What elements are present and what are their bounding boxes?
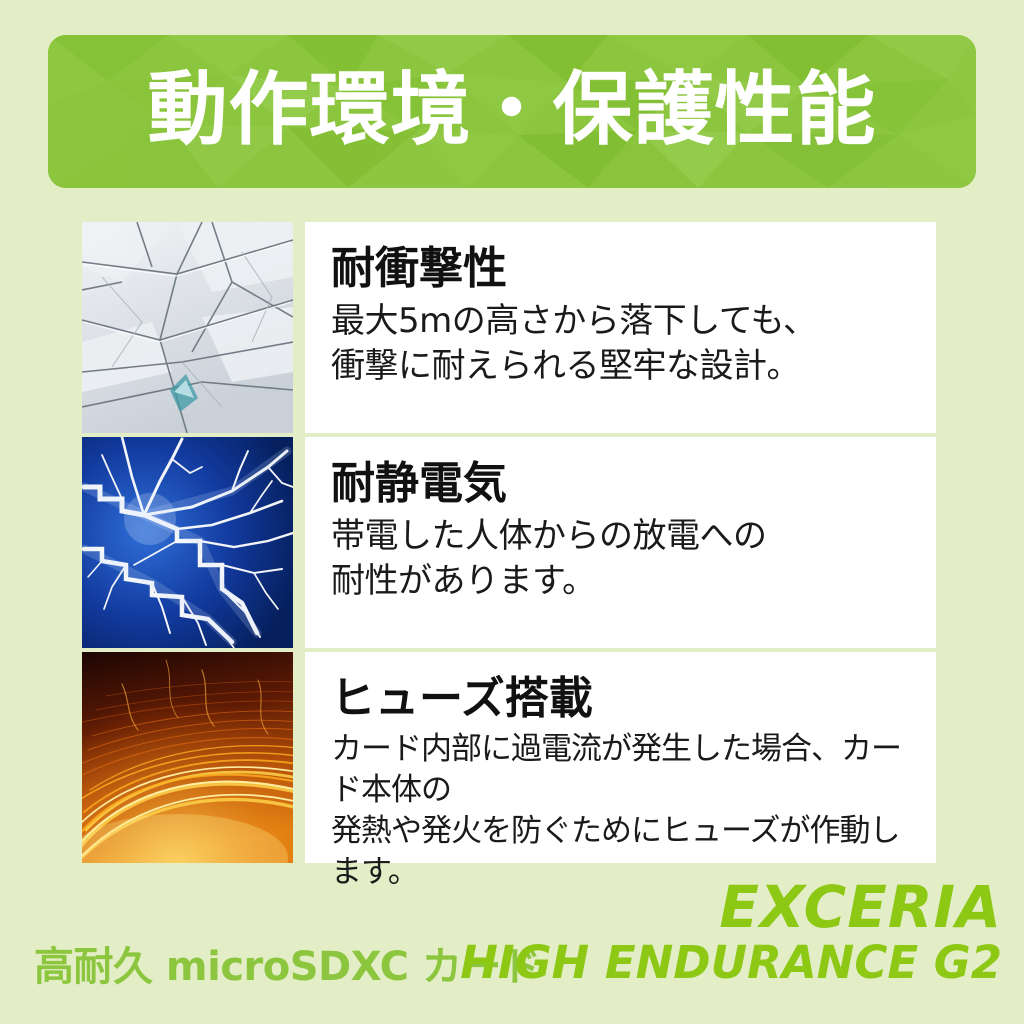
brand-name: EXCERIA: [460, 878, 1002, 937]
header-banner: 動作環境・保護性能: [48, 35, 976, 188]
feature-body: カード内部に過電流が発生した場合、カード本体の 発熱や発火を防ぐためにヒューズが…: [331, 729, 916, 893]
brand-line: HIGH ENDURANCE G2: [460, 939, 1002, 986]
fire-sparks-photo: [82, 652, 293, 863]
page-title: 動作環境・保護性能: [48, 35, 976, 188]
feature-panel: 耐静電気 帯電した人体からの放電への 耐性があります。: [305, 437, 936, 648]
feature-body: 最大5mの高さから落下しても、 衝撃に耐えられる堅牢な設計。: [331, 299, 916, 389]
brand-lockup: EXCERIA HIGH ENDURANCE G2: [460, 878, 1002, 986]
footer: 高耐久 microSDXC カード EXCERIA HIGH ENDURANCE…: [0, 876, 1024, 1024]
feature-title: ヒューズ搭載: [331, 674, 916, 723]
feature-list: 耐衝撃性 最大5mの高さから落下しても、 衝撃に耐えられる堅牢な設計。: [82, 222, 936, 867]
feature-body: 帯電した人体からの放電への 耐性があります。: [331, 514, 916, 604]
lightning-bolt-photo: [82, 437, 293, 648]
feature-row: ヒューズ搭載 カード内部に過電流が発生した場合、カード本体の 発熱や発火を防ぐた…: [82, 652, 936, 863]
feature-title: 耐衝撃性: [331, 244, 916, 293]
feature-panel: 耐衝撃性 最大5mの高さから落下しても、 衝撃に耐えられる堅牢な設計。: [305, 222, 936, 433]
feature-row: 耐衝撃性 最大5mの高さから落下しても、 衝撃に耐えられる堅牢な設計。: [82, 222, 936, 433]
feature-panel: ヒューズ搭載 カード内部に過電流が発生した場合、カード本体の 発熱や発火を防ぐた…: [305, 652, 936, 863]
feature-title: 耐静電気: [331, 459, 916, 508]
shattered-glass-photo: [82, 222, 293, 433]
feature-row: 耐静電気 帯電した人体からの放電への 耐性があります。: [82, 437, 936, 648]
